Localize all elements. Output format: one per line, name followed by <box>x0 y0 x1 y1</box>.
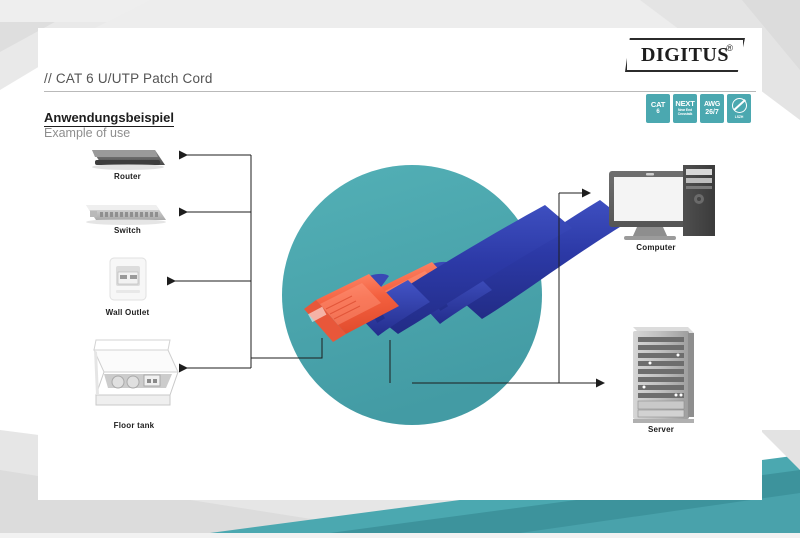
section-heading-de: Anwendungsbeispiel <box>44 110 174 127</box>
lszh-badge: LSZH <box>727 94 751 123</box>
awg-badge-line2: 26/7 <box>705 109 719 116</box>
label-computer: Computer <box>612 243 700 252</box>
lszh-badge-line3: LSZH <box>735 116 743 120</box>
next-badge-line1: NEXT <box>675 100 694 108</box>
floor-tank-icon <box>94 340 178 405</box>
page-title: // CAT 6 U/UTP Patch Cord <box>44 71 213 86</box>
label-switch: Switch <box>85 226 170 235</box>
digitus-logo: DIGITUS ® <box>625 38 745 72</box>
awg-badge-line1: AWG <box>704 101 720 108</box>
section-heading-en: Example of use <box>44 126 130 140</box>
computer-icon <box>609 165 715 240</box>
server-icon <box>633 327 694 423</box>
cat6-badge-line1: CAT <box>651 101 665 109</box>
wall-outlet-icon <box>110 258 146 300</box>
next-badge: NEXT Near End Crosstalk <box>673 94 697 123</box>
title-divider <box>44 91 756 92</box>
label-router: Router <box>85 172 170 181</box>
cat6-badge: CAT 6 <box>646 94 670 123</box>
switch-icon <box>86 205 166 225</box>
label-wall-outlet: Wall Outlet <box>85 308 170 317</box>
label-server: Server <box>617 425 705 434</box>
awg-badge: AWG 26/7 <box>700 94 724 123</box>
registered-mark-icon: ® <box>726 43 733 53</box>
no-halogen-icon <box>732 98 747 113</box>
certification-badges: CAT 6 NEXT Near End Crosstalk AWG 26/7 L… <box>646 94 751 123</box>
router-icon <box>92 150 165 170</box>
label-floor-tank: Floor tank <box>90 421 178 430</box>
next-badge-line3: Near End Crosstalk <box>674 109 696 117</box>
cat6-badge-line2: 6 <box>656 109 659 115</box>
